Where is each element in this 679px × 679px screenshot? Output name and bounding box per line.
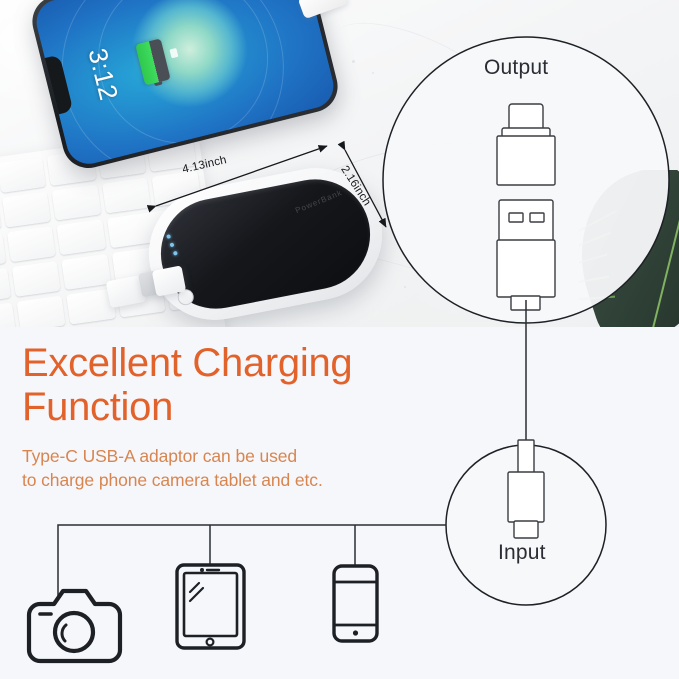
headline-line-2: Function [22,385,422,429]
marble-vein [325,5,505,125]
leaf-body [579,170,679,327]
headline-line-1: Excellent Charging [22,341,422,385]
charging-cable-photo [298,0,349,19]
subtitle-line-1: Type-C USB-A adaptor can be used [22,444,442,468]
key [0,157,46,193]
led [166,234,171,239]
marble-speck [352,60,355,63]
key [102,177,151,213]
input-label: Input [498,541,546,565]
key [62,254,111,290]
led [169,242,174,247]
led [173,251,178,256]
phone-screen: 3:12 [32,0,339,169]
key [0,268,11,304]
product-photo: 3:12 PowerBank [0,0,679,327]
infographic-root: 3:12 PowerBank [0,0,679,679]
page-title: Excellent Charging Function [22,341,422,429]
output-label: Output [484,56,548,80]
key [52,184,101,220]
marble-speck [404,286,406,288]
key [57,219,106,255]
key [16,296,65,327]
key [0,233,6,269]
key [0,199,1,235]
page-subtitle: Type-C USB-A adaptor can be used to char… [22,444,442,492]
subtitle-line-2: to charge phone camera tablet and etc. [22,468,442,492]
key [2,192,51,228]
key [7,226,56,262]
marble-speck [372,72,374,74]
text-panel: Excellent Charging Function Type-C USB-A… [0,327,679,679]
palm-leaf [579,170,679,327]
key [11,261,60,297]
key [0,303,16,327]
